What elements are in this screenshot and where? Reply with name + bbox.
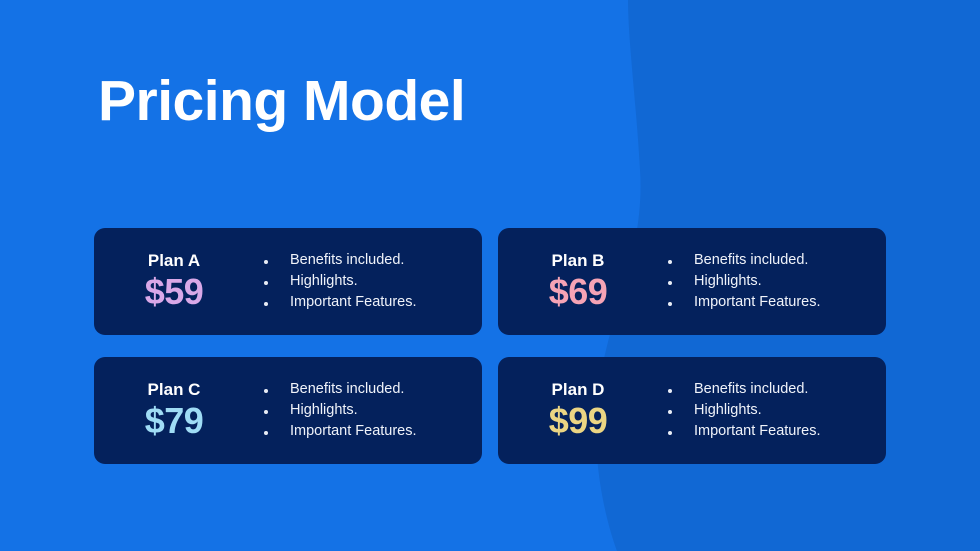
bullet-dot-icon — [258, 281, 290, 285]
bullet-dot-icon — [258, 389, 290, 393]
pricing-card-plan-b[interactable]: Plan B $69 Benefits included. Highlights… — [498, 228, 886, 335]
list-item: Benefits included. — [662, 250, 878, 271]
list-item: Important Features. — [258, 292, 474, 313]
bullet-dot-icon — [258, 431, 290, 435]
plan-price: $79 — [145, 402, 204, 440]
feature-label: Important Features. — [290, 421, 417, 442]
list-item: Important Features. — [258, 421, 474, 442]
page-title: Pricing Model — [98, 72, 465, 132]
pricing-card-plan-d[interactable]: Plan D $99 Benefits included. Highlights… — [498, 357, 886, 464]
feature-label: Highlights. — [290, 400, 358, 421]
feature-label: Highlights. — [290, 271, 358, 292]
plan-summary: Plan B $69 — [498, 252, 658, 310]
plan-name: Plan D — [552, 381, 605, 400]
list-item: Important Features. — [662, 421, 878, 442]
pricing-card-plan-a[interactable]: Plan A $59 Benefits included. Highlights… — [94, 228, 482, 335]
pricing-model-slide: Pricing Model Plan A $59 Benefits includ… — [0, 0, 980, 551]
plan-name: Plan A — [148, 252, 200, 271]
plan-price: $99 — [549, 402, 608, 440]
feature-label: Benefits included. — [290, 379, 404, 400]
plan-price: $59 — [145, 273, 204, 311]
bullet-dot-icon — [662, 281, 694, 285]
list-item: Important Features. — [662, 292, 878, 313]
feature-label: Highlights. — [694, 400, 762, 421]
plan-feature-list: Benefits included. Highlights. Important… — [254, 379, 474, 442]
pricing-card-plan-c[interactable]: Plan C $79 Benefits included. Highlights… — [94, 357, 482, 464]
feature-label: Important Features. — [694, 292, 821, 313]
list-item: Benefits included. — [662, 379, 878, 400]
feature-label: Important Features. — [694, 421, 821, 442]
bullet-dot-icon — [258, 410, 290, 414]
plan-feature-list: Benefits included. Highlights. Important… — [658, 379, 878, 442]
bullet-dot-icon — [258, 302, 290, 306]
plan-price: $69 — [549, 273, 608, 311]
bullet-dot-icon — [258, 260, 290, 264]
plan-summary: Plan A $59 — [94, 252, 254, 310]
bullet-dot-icon — [662, 410, 694, 414]
bullet-dot-icon — [662, 260, 694, 264]
bullet-dot-icon — [662, 389, 694, 393]
plan-feature-list: Benefits included. Highlights. Important… — [658, 250, 878, 313]
list-item: Highlights. — [258, 400, 474, 421]
list-item: Highlights. — [258, 271, 474, 292]
plan-name: Plan C — [148, 381, 201, 400]
feature-label: Important Features. — [290, 292, 417, 313]
list-item: Highlights. — [662, 400, 878, 421]
list-item: Benefits included. — [258, 250, 474, 271]
plan-feature-list: Benefits included. Highlights. Important… — [254, 250, 474, 313]
feature-label: Benefits included. — [290, 250, 404, 271]
list-item: Highlights. — [662, 271, 878, 292]
pricing-cards-grid: Plan A $59 Benefits included. Highlights… — [94, 228, 886, 464]
bullet-dot-icon — [662, 302, 694, 306]
feature-label: Benefits included. — [694, 379, 808, 400]
plan-summary: Plan D $99 — [498, 381, 658, 439]
list-item: Benefits included. — [258, 379, 474, 400]
feature-label: Highlights. — [694, 271, 762, 292]
bullet-dot-icon — [662, 431, 694, 435]
plan-summary: Plan C $79 — [94, 381, 254, 439]
feature-label: Benefits included. — [694, 250, 808, 271]
plan-name: Plan B — [552, 252, 605, 271]
